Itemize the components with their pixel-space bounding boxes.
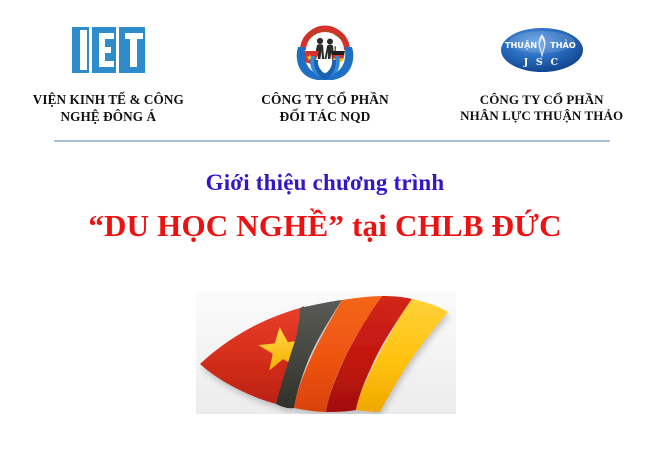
iet-letter-i-icon [72, 27, 89, 73]
header-divider [54, 140, 610, 142]
svg-text:Deut: Deut [322, 29, 330, 33]
nqd-logo-slot: Viethom Deut chland [292, 16, 358, 84]
partner-iet: VIỆN KINH TẾ & CÔNG NGHỆ ĐÔNG Á [0, 16, 217, 126]
thuan-thao-jsc-text: J S C [522, 57, 560, 68]
thuan-thao-logo: THUẬN THẢO J S C [500, 27, 584, 73]
iet-letter-e-icon [92, 27, 116, 73]
thuan-thao-right-word: THẢO [550, 39, 576, 50]
thuan-thao-left-word: THUẬN [505, 40, 537, 50]
title-block: Giới thiệu chương trình “DU HỌC NGHỀ” tạ… [0, 170, 650, 244]
partner-name-nqd: CÔNG TY CỔ PHẦN ĐỐI TÁC NQD [235, 92, 415, 126]
partner-name-thuan-thao: CÔNG TY CỔ PHẦN NHÂN LỰC THUẬN THẢO [442, 92, 642, 125]
partner-name-iet: VIỆN KINH TẾ & CÔNG NGHỆ ĐÔNG Á [10, 92, 206, 125]
flag-svg [196, 292, 456, 414]
partner-nqd: Viethom Deut chland [217, 16, 434, 126]
partner-logos-row: VIỆN KINH TẾ & CÔNG NGHỆ ĐÔNG Á Viethom … [0, 0, 650, 126]
program-subtitle: Giới thiệu chương trình [0, 170, 650, 196]
iet-logo-slot [72, 16, 145, 84]
iet-letter-t-icon [119, 27, 145, 73]
thuan-thao-logo-slot: THUẬN THẢO J S C [500, 16, 584, 84]
nqd-hands-logo: Viethom Deut chland [292, 20, 358, 80]
program-main-title: “DU HỌC NGHỀ” tại CHLB ĐỨC [0, 208, 650, 244]
iet-logo [72, 27, 145, 73]
partner-thuan-thao: THUẬN THẢO J S C CÔNG TY CỔ PHẦN NHÂN LỰ… [433, 16, 650, 126]
vietnam-germany-flag-graphic [196, 292, 456, 414]
